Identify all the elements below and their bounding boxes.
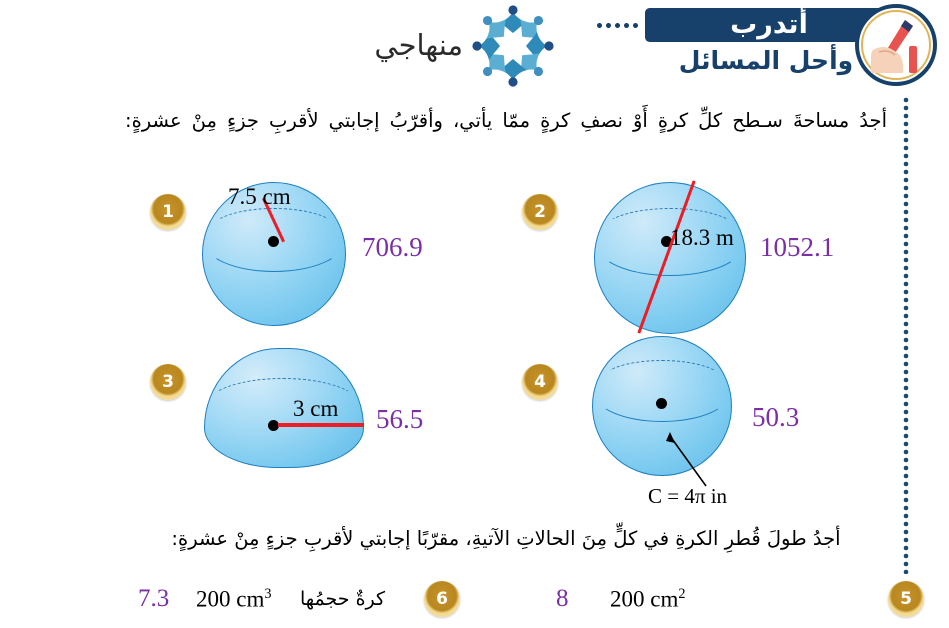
practice-banner: أتدرب وأحل المسائل [621,2,941,88]
problem-number-badge-1[interactable]: 1 [150,194,186,230]
dimension-label-2: 18.3 m [670,225,734,251]
answer-2: 1052.1 [760,232,834,263]
answer-3: 56.5 [376,404,423,435]
dimension-label-4: C = 4π in [648,484,727,509]
vertical-dotted-divider [903,96,909,574]
banner-dots-decoration [595,22,641,29]
problem-6-quantity-exponent: 3 [264,586,271,602]
hand-with-pencil-icon [865,16,927,74]
banner-title-line1: أتدرب [655,8,883,42]
equator-front-arc-4 [593,362,731,422]
banner-title-line2: وأحل المسائل [653,46,879,75]
center-point-4 [656,398,667,409]
instruction-diameter: أجدُ طولَ قُطرِ الكرةِ في كلٍّ مِنَ الحا… [125,522,887,555]
problem-number-badge-6[interactable]: 6 [424,581,460,617]
problem-5-quantity-exponent: 2 [678,586,685,602]
instruction-surface-area: أجدُ مساحةَ سـطح كلِّ كرةٍ أَوْ نصفِ كرة… [125,104,887,137]
problem-number-badge-2[interactable]: 2 [522,194,558,230]
radius-line-3 [278,423,364,427]
answer-4: 50.3 [752,402,799,433]
problem-6-text: كرةٌ حجمُها [300,588,385,610]
problem-6-quantity: 200 cm3 [196,586,271,613]
problem-number-badge-3[interactable]: 3 [150,364,186,400]
center-point-1 [268,236,279,247]
answer-5: 8 [556,585,569,613]
problem-number-badge-4[interactable]: 4 [522,364,558,400]
problem-6-quantity-value: 200 cm [196,587,264,612]
problem-5-quantity-value: 200 cm [610,587,678,612]
answer-6: 7.3 [138,585,169,613]
dimension-label-1: 7.5 cm [228,184,291,210]
brand-logo: منهاجي [355,4,555,88]
manhaji-starburst-people-logo [471,4,555,88]
page-header: منهاجي أتدرب وأحل المسائل [0,0,949,92]
answer-1: 706.9 [362,232,423,263]
problem-number-badge-5[interactable]: 5 [888,581,924,617]
callout-arrow-4 [660,430,730,492]
problem-5-quantity: 200 cm2 [610,586,685,613]
brand-name: منهاجي [355,28,463,62]
dimension-label-3: 3 cm [293,396,338,422]
